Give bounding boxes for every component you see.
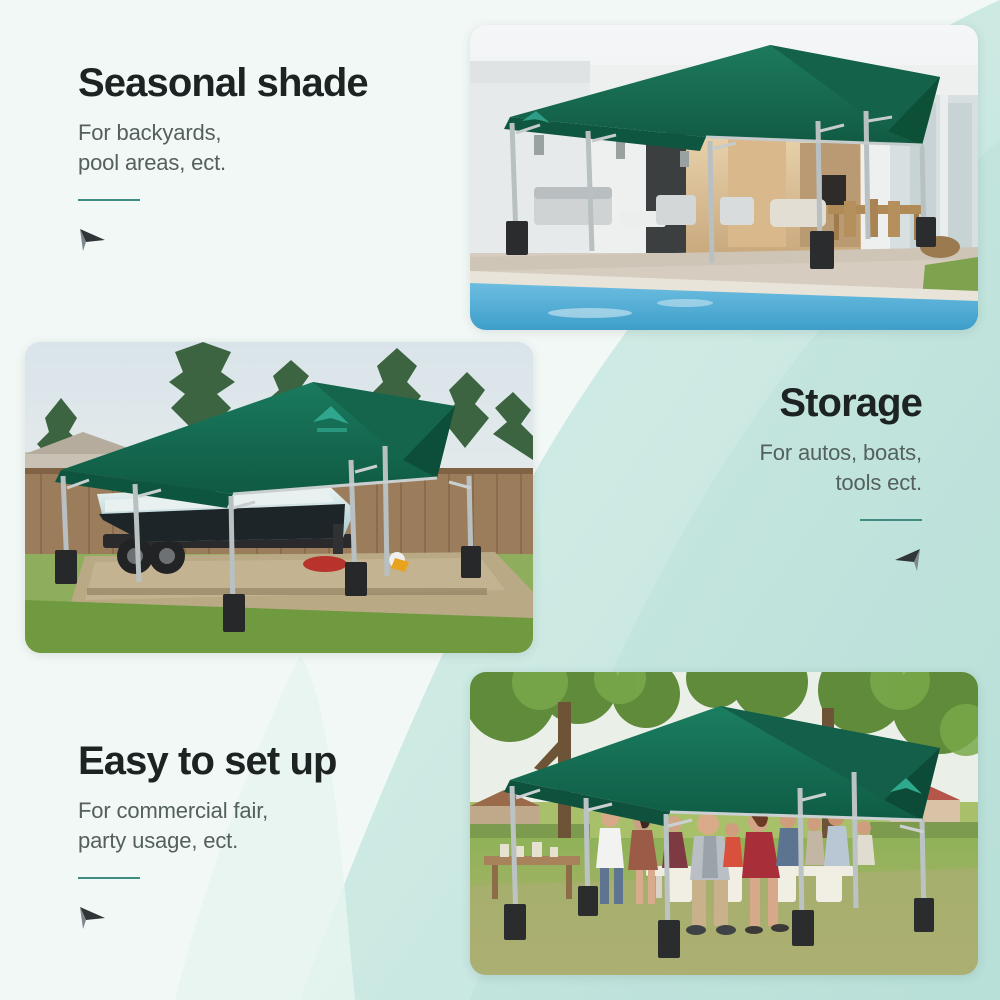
feature-headline: Storage (759, 382, 922, 424)
photo-boat-carport (25, 342, 533, 653)
feature-block-easy-to-set-up: Easy to set up For commercial fair, part… (78, 740, 337, 931)
feature-divider (78, 199, 140, 201)
arrow-right-icon (78, 905, 108, 931)
feature-subtext: For commercial fair, party usage, ect. (78, 796, 337, 855)
feature-divider (78, 877, 140, 879)
feature-headline: Seasonal shade (78, 62, 368, 104)
feature-divider (860, 519, 922, 521)
feature-subtext: For autos, boats, tools ect. (759, 438, 922, 497)
photo-party-canopy (470, 672, 978, 975)
feature-subtext: For backyards, pool areas, ect. (78, 118, 368, 177)
arrow-right-icon (78, 227, 108, 253)
arrow-left-icon (892, 547, 922, 573)
feature-headline: Easy to set up (78, 740, 337, 782)
photo-poolside-canopy (470, 25, 978, 330)
feature-block-seasonal-shade: Seasonal shade For backyards, pool areas… (78, 62, 368, 253)
feature-block-storage: Storage For autos, boats, tools ect. (759, 382, 922, 573)
